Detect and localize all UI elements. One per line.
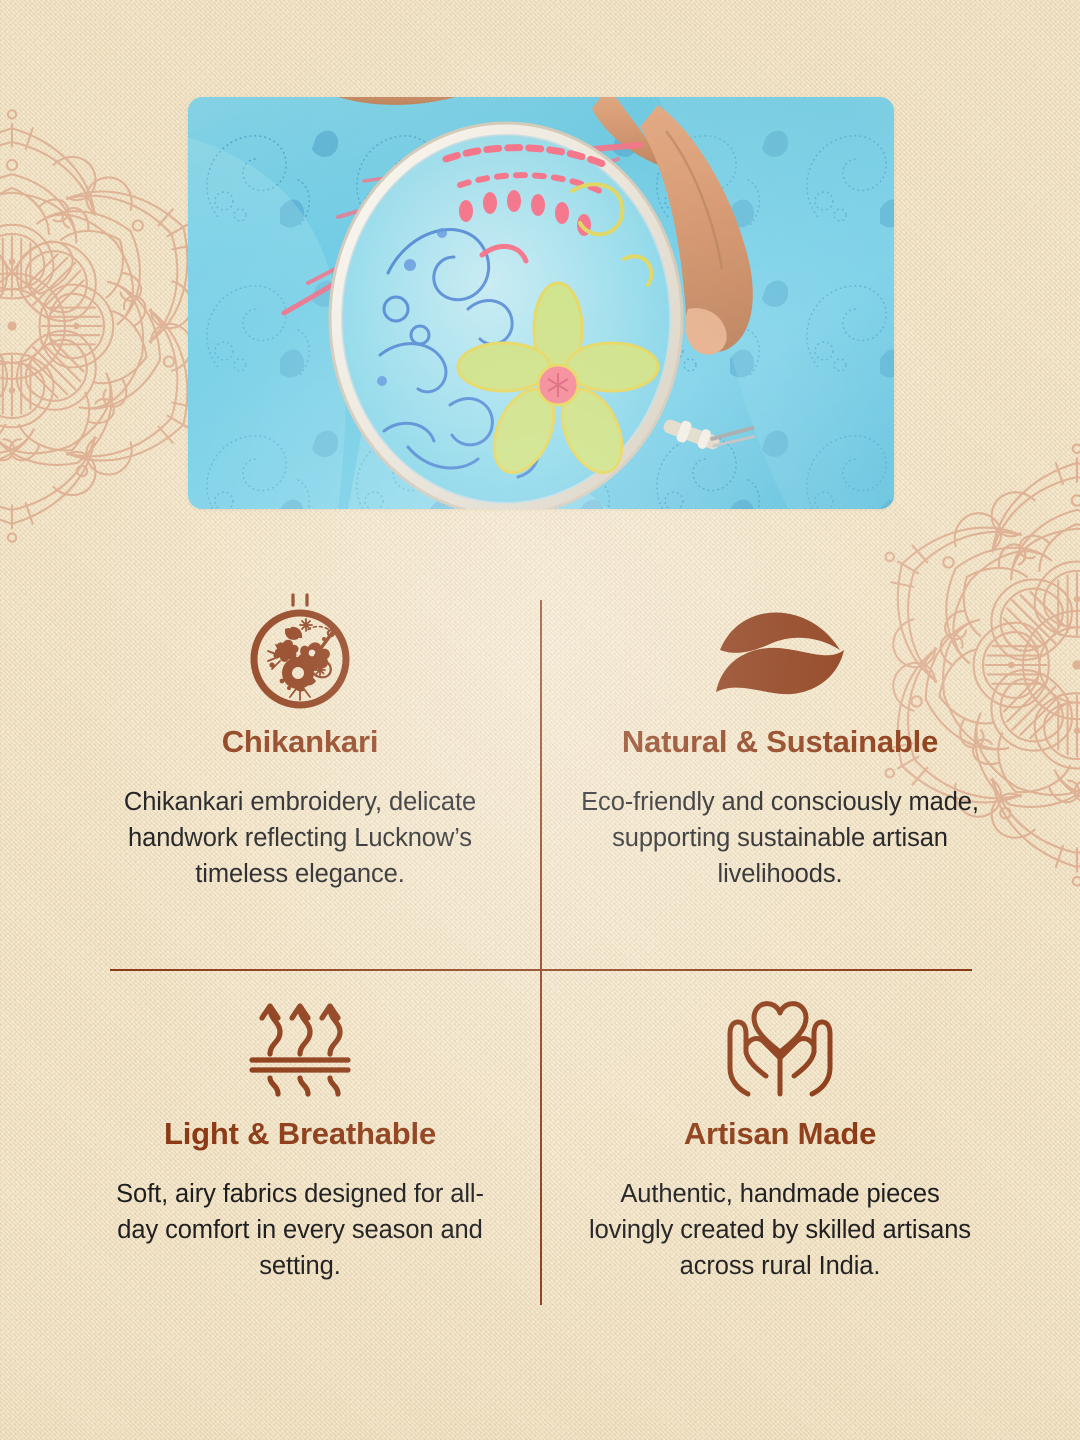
feature-card-light-breathable: Light & Breathable Soft, airy fabrics de… [60, 950, 540, 1320]
feature-title: Light & Breathable [164, 1116, 436, 1152]
embroidery-hoop-icon [244, 594, 356, 710]
feature-card-chikankari: Chikankari Chikankari embroidery, delica… [60, 580, 540, 950]
feature-grid: Chikankari Chikankari embroidery, delica… [60, 580, 1020, 1320]
feature-title: Natural & Sustainable [622, 724, 938, 760]
feature-card-natural-sustainable: Natural & Sustainable Eco-friendly and c… [540, 580, 1020, 950]
feature-title: Chikankari [222, 724, 379, 760]
feature-title: Artisan Made [684, 1116, 876, 1152]
feature-description: Soft, airy fabrics designed for all-day … [100, 1176, 500, 1285]
breathable-fabric-icon [246, 986, 354, 1102]
feature-description: Chikankari embroidery, delicate handwork… [100, 784, 500, 893]
feature-description: Authentic, handmade pieces lovingly crea… [580, 1176, 980, 1285]
hero-photo [188, 97, 894, 509]
feature-card-artisan-made: Artisan Made Authentic, handmade pieces … [540, 950, 1020, 1320]
feature-description: Eco-friendly and consciously made, suppo… [580, 784, 980, 893]
poster-canvas: Chikankari Chikankari embroidery, delica… [0, 0, 1080, 1440]
leaf-icon [714, 594, 846, 710]
hands-heart-icon [724, 986, 836, 1102]
